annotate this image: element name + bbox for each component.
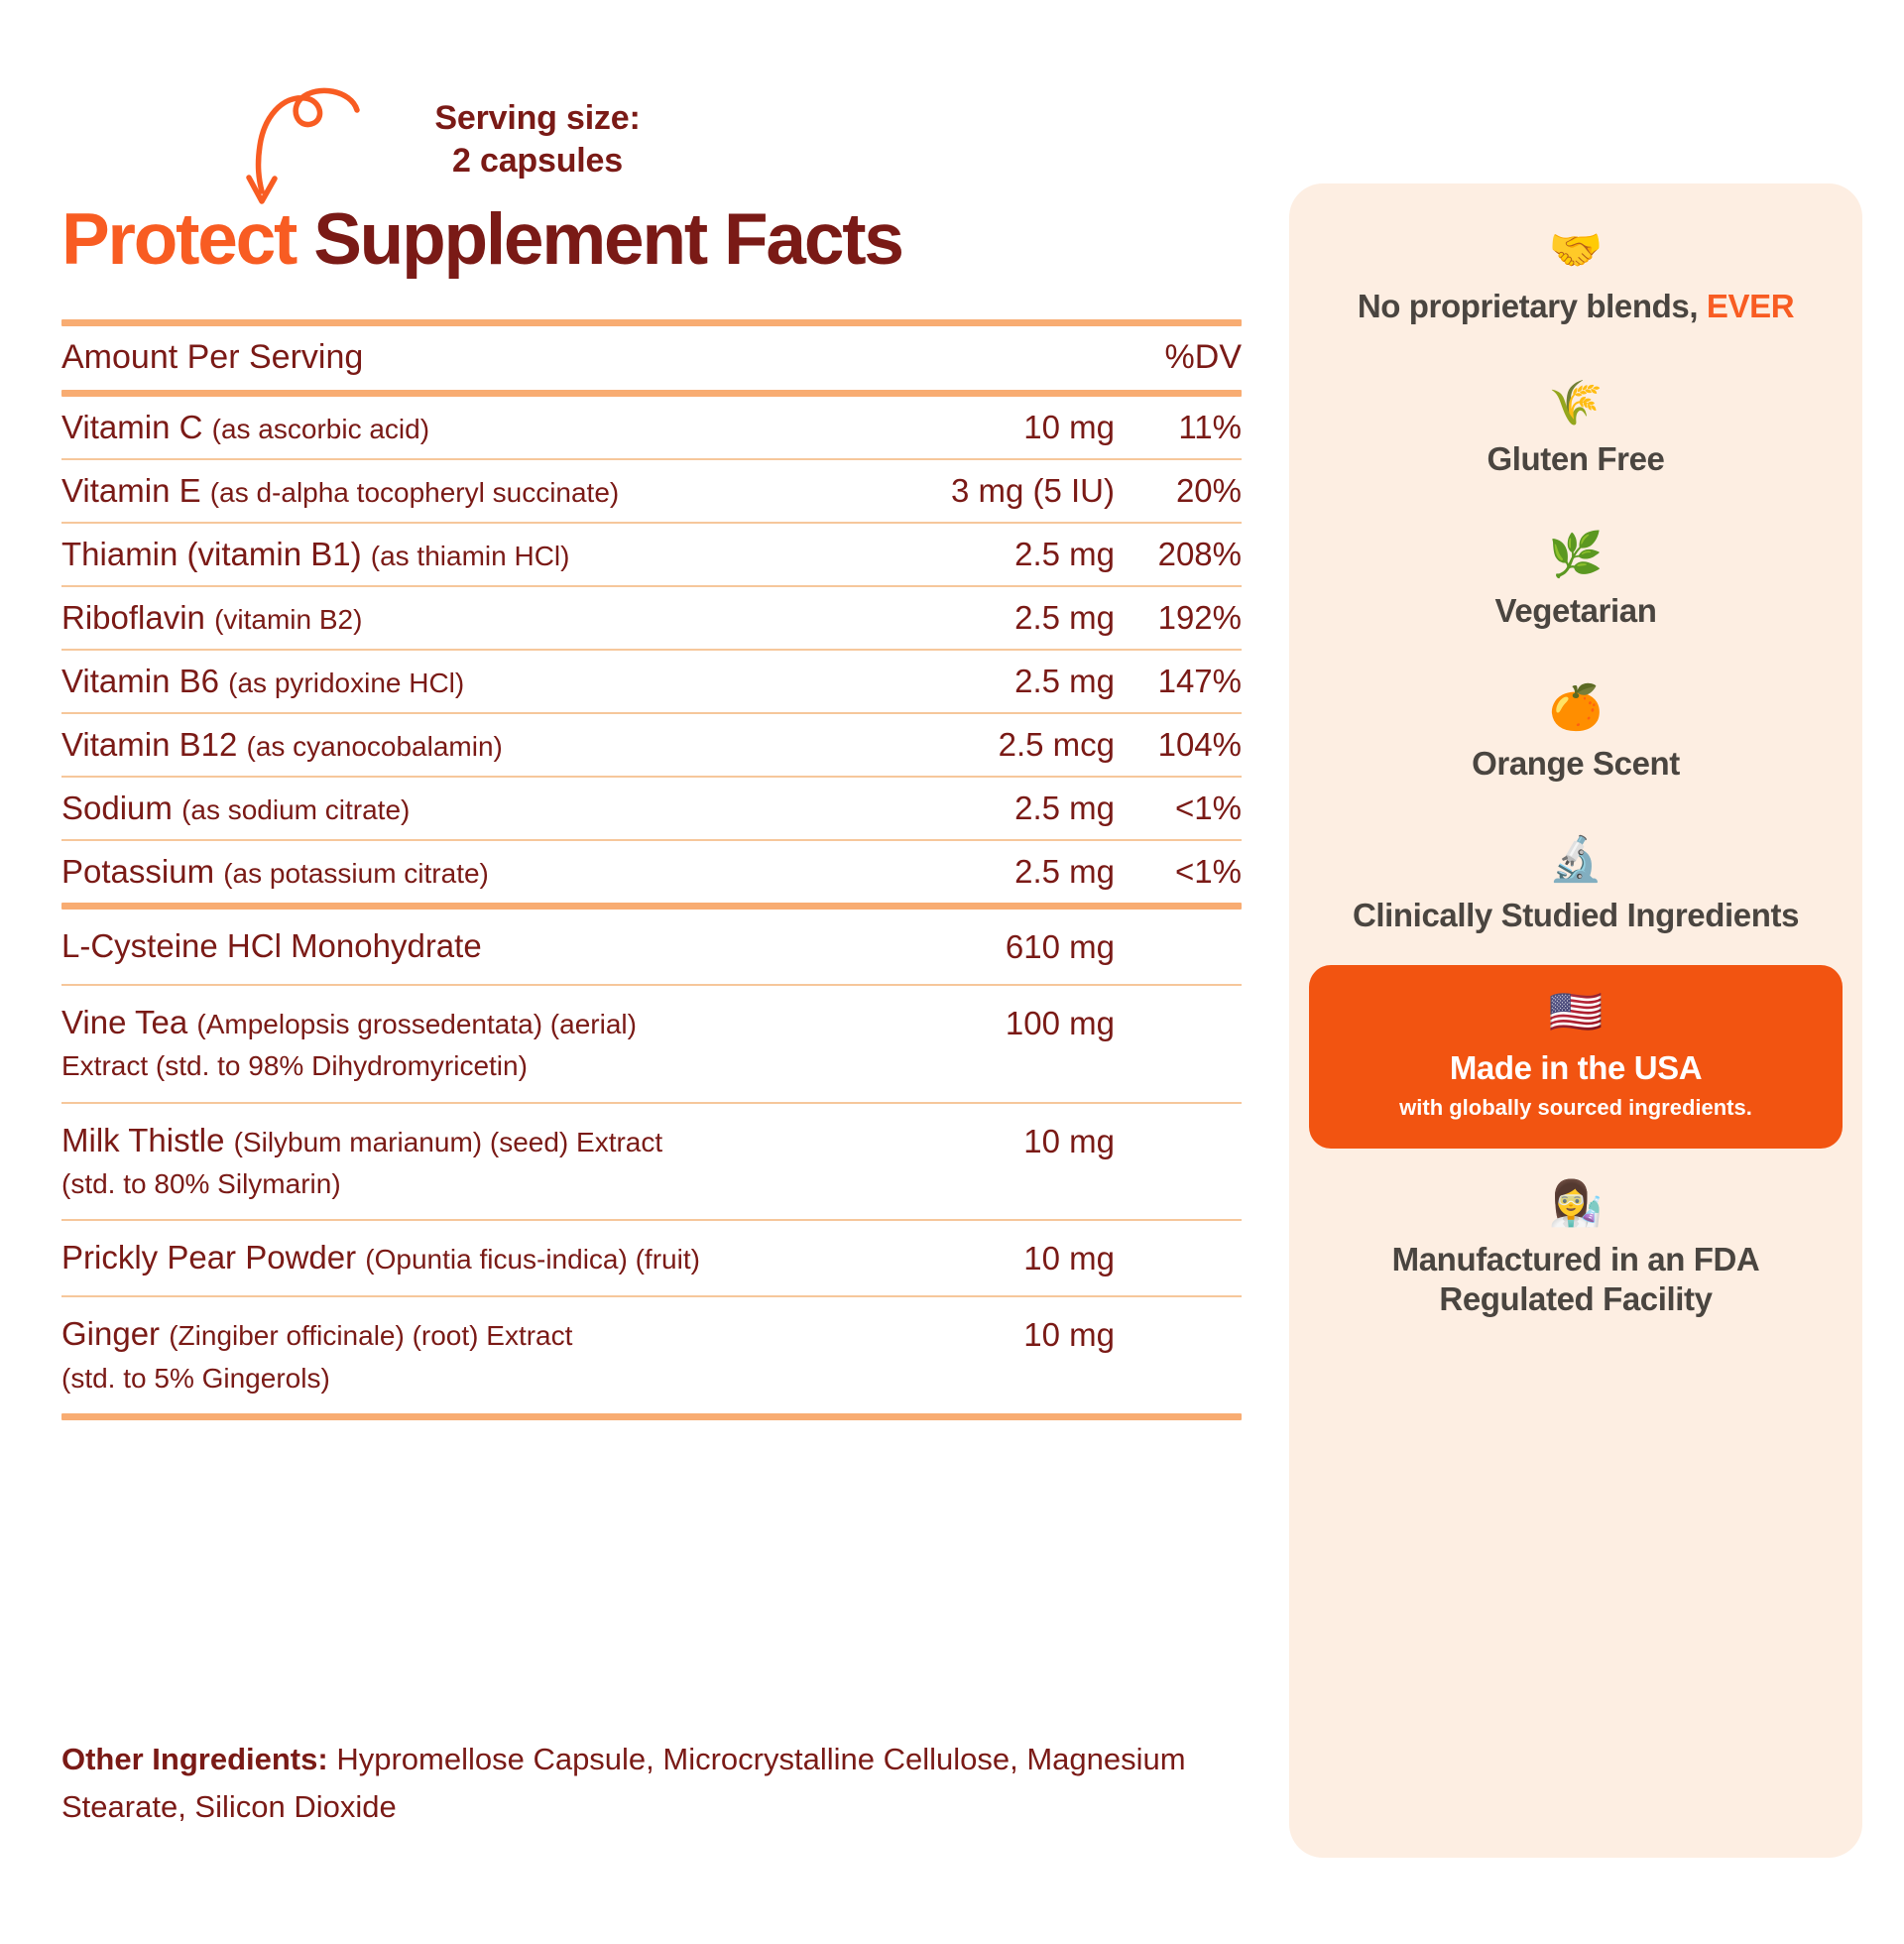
ingredient-dv bbox=[1115, 1120, 1242, 1121]
badge-label: Orange Scent bbox=[1329, 744, 1823, 784]
vitamin-rows-group: Vitamin C (as ascorbic acid)10 mg11%Vita… bbox=[61, 397, 1242, 903]
ingredient-dv: 147% bbox=[1115, 661, 1242, 702]
badge-wheat: 🌾Gluten Free bbox=[1289, 382, 1862, 479]
amount-per-serving-header: Amount Per Serving bbox=[61, 336, 906, 380]
table-header-row: Amount Per Serving %DV bbox=[61, 326, 1242, 390]
handshake-icon: 🤝 bbox=[1329, 229, 1823, 273]
ingredient-name: Riboflavin (vitamin B2) bbox=[61, 597, 906, 639]
ingredient-dv: 104% bbox=[1115, 724, 1242, 766]
usa-flag-icon: 🇺🇸 bbox=[1339, 991, 1813, 1034]
ingredient-descriptor: (as cyanocobalamin) bbox=[247, 731, 503, 762]
table-row: Vitamin C (as ascorbic acid)10 mg11% bbox=[61, 397, 1242, 458]
ingredient-amount: 10 mg bbox=[906, 1237, 1115, 1279]
ingredient-dv bbox=[1115, 1002, 1242, 1003]
orange-fruit-icon: 🍊 bbox=[1329, 686, 1823, 730]
ingredient-descriptor: Extract (std. to 98% Dihydromyricetin) bbox=[61, 1050, 528, 1081]
ingredient-amount: 3 mg (5 IU) bbox=[906, 470, 1115, 512]
ingredient-dv: 11% bbox=[1115, 407, 1242, 448]
microscope-icon: 🔬 bbox=[1329, 838, 1823, 882]
ingredient-descriptor: (vitamin B2) bbox=[214, 604, 362, 635]
ingredient-amount: 2.5 mg bbox=[906, 597, 1115, 639]
ingredient-name: Vitamin B12 (as cyanocobalamin) bbox=[61, 724, 906, 766]
table-row: Milk Thistle (Silybum marianum) (seed) E… bbox=[61, 1104, 1242, 1219]
ingredient-dv: 192% bbox=[1115, 597, 1242, 639]
ingredient-amount: 2.5 mg bbox=[906, 661, 1115, 702]
ingredient-name: Thiamin (vitamin B1) (as thiamin HCl) bbox=[61, 534, 906, 575]
ingredient-descriptor: (Ampelopsis grossedentata) (aerial) bbox=[196, 1009, 637, 1039]
dv-column-header: %DV bbox=[1115, 336, 1242, 380]
ingredient-amount: 2.5 mg bbox=[906, 851, 1115, 893]
badge-orange-fruit: 🍊Orange Scent bbox=[1289, 686, 1862, 784]
badge-label: Gluten Free bbox=[1329, 439, 1823, 479]
table-row: Prickly Pear Powder (Opuntia ficus-indic… bbox=[61, 1221, 1242, 1295]
table-row: Riboflavin (vitamin B2)2.5 mg192% bbox=[61, 587, 1242, 649]
badge-microscope: 🔬Clinically Studied Ingredients bbox=[1289, 838, 1862, 935]
other-ingredients: Other Ingredients: Hypromellose Capsule,… bbox=[61, 1736, 1212, 1831]
ingredient-descriptor: (Opuntia ficus-indica) (fruit) bbox=[365, 1244, 700, 1275]
ingredient-descriptor: (as ascorbic acid) bbox=[212, 414, 429, 444]
badge-handshake: 🤝No proprietary blends, EVER bbox=[1289, 229, 1862, 326]
ingredient-name: Vitamin C (as ascorbic acid) bbox=[61, 407, 906, 448]
ingredient-name: Vine Tea (Ampelopsis grossedentata) (aer… bbox=[61, 1002, 906, 1085]
table-row: Vitamin E (as d-alpha tocopheryl succina… bbox=[61, 460, 1242, 522]
ingredient-descriptor: (Silybum marianum) (seed) Extract bbox=[234, 1127, 663, 1157]
ingredient-name: Ginger (Zingiber officinale) (root) Extr… bbox=[61, 1313, 906, 1397]
ingredient-amount: 610 mg bbox=[906, 925, 1115, 968]
ingredient-dv: <1% bbox=[1115, 788, 1242, 829]
ingredient-descriptor: (std. to 5% Gingerols) bbox=[61, 1363, 330, 1394]
ingredient-amount: 2.5 mg bbox=[906, 788, 1115, 829]
title-rest: Supplement Facts bbox=[296, 199, 902, 280]
ingredient-descriptor: (as thiamin HCl) bbox=[371, 541, 570, 571]
badge-label: Clinically Studied Ingredients bbox=[1329, 896, 1823, 935]
ingredient-dv bbox=[1115, 1313, 1242, 1314]
ingredient-amount: 10 mg bbox=[906, 407, 1115, 448]
page-title: Protect Supplement Facts bbox=[61, 203, 902, 276]
ingredient-name: Sodium (as sodium citrate) bbox=[61, 788, 906, 829]
vitamins-bottom-rule bbox=[61, 903, 1242, 910]
ingredient-descriptor: (as d-alpha tocopheryl succinate) bbox=[210, 477, 619, 508]
badge-label-highlight: EVER bbox=[1707, 288, 1794, 324]
herb-rows-group: L-Cysteine HCl Monohydrate610 mgVine Tea… bbox=[61, 910, 1242, 1413]
ingredient-amount: 2.5 mg bbox=[906, 534, 1115, 575]
ingredient-name: Vitamin B6 (as pyridoxine HCl) bbox=[61, 661, 906, 702]
ingredient-descriptor: (Zingiber officinale) (root) Extract bbox=[169, 1320, 572, 1351]
badge-label: Made in the USA bbox=[1339, 1048, 1813, 1088]
curved-arrow-icon bbox=[240, 84, 379, 213]
ingredient-dv: <1% bbox=[1115, 851, 1242, 893]
ingredient-name: Prickly Pear Powder (Opuntia ficus-indic… bbox=[61, 1237, 906, 1278]
badge-label: No proprietary blends, EVER bbox=[1329, 287, 1823, 326]
badge-herb-leaf: 🌿Vegetarian bbox=[1289, 534, 1862, 631]
badge-label: Manufactured in an FDA Regulated Facilit… bbox=[1329, 1240, 1823, 1318]
herb-leaf-icon: 🌿 bbox=[1329, 534, 1823, 577]
ingredient-dv bbox=[1115, 1237, 1242, 1238]
wheat-icon: 🌾 bbox=[1329, 382, 1823, 425]
ingredient-amount: 2.5 mcg bbox=[906, 724, 1115, 766]
table-header-rule bbox=[61, 390, 1242, 397]
scientist-icon: 👩‍🔬 bbox=[1329, 1182, 1823, 1226]
ingredient-descriptor: (as potassium citrate) bbox=[223, 858, 489, 889]
ingredient-descriptor: (as sodium citrate) bbox=[181, 794, 410, 825]
badge-usa-flag: 🇺🇸Made in the USAwith globally sourced i… bbox=[1309, 965, 1843, 1149]
ingredient-name: Potassium (as potassium citrate) bbox=[61, 851, 906, 893]
badge-label: Vegetarian bbox=[1329, 591, 1823, 631]
badge-sublabel: with globally sourced ingredients. bbox=[1339, 1095, 1813, 1121]
ingredient-dv: 208% bbox=[1115, 534, 1242, 575]
other-ingredients-label: Other Ingredients: bbox=[61, 1742, 328, 1776]
nutrition-table: Amount Per Serving %DV Vitamin C (as asc… bbox=[61, 319, 1242, 1420]
serving-size-line1: Serving size: bbox=[434, 99, 640, 137]
serving-size-callout: Serving size: 2 capsules bbox=[240, 84, 656, 213]
table-top-rule bbox=[61, 319, 1242, 326]
table-row: Thiamin (vitamin B1) (as thiamin HCl)2.5… bbox=[61, 524, 1242, 585]
table-bottom-rule bbox=[61, 1413, 1242, 1420]
table-row: Sodium (as sodium citrate)2.5 mg<1% bbox=[61, 778, 1242, 839]
table-row: Ginger (Zingiber officinale) (root) Extr… bbox=[61, 1297, 1242, 1412]
serving-size-text: Serving size: 2 capsules bbox=[414, 97, 661, 182]
ingredient-amount: 10 mg bbox=[906, 1313, 1115, 1356]
table-row: Potassium (as potassium citrate)2.5 mg<1… bbox=[61, 841, 1242, 903]
table-row: L-Cysteine HCl Monohydrate610 mg bbox=[61, 910, 1242, 984]
ingredient-amount: 10 mg bbox=[906, 1120, 1115, 1162]
supplement-facts-page: Serving size: 2 capsules Protect Supplem… bbox=[0, 0, 1904, 1944]
table-row: Vitamin B6 (as pyridoxine HCl)2.5 mg147% bbox=[61, 651, 1242, 712]
ingredient-name: Vitamin E (as d-alpha tocopheryl succina… bbox=[61, 470, 906, 512]
ingredient-name: L-Cysteine HCl Monohydrate bbox=[61, 925, 906, 967]
brand-name: Protect bbox=[61, 199, 296, 280]
ingredient-dv: 20% bbox=[1115, 470, 1242, 512]
ingredient-descriptor: (std. to 80% Silymarin) bbox=[61, 1168, 341, 1199]
table-row: Vine Tea (Ampelopsis grossedentata) (aer… bbox=[61, 986, 1242, 1101]
ingredient-name: Milk Thistle (Silybum marianum) (seed) E… bbox=[61, 1120, 906, 1203]
product-badges-sidebar: 🤝No proprietary blends, EVER🌾Gluten Free… bbox=[1289, 183, 1862, 1858]
serving-size-line2: 2 capsules bbox=[414, 140, 661, 182]
table-row: Vitamin B12 (as cyanocobalamin)2.5 mcg10… bbox=[61, 714, 1242, 776]
ingredient-amount: 100 mg bbox=[906, 1002, 1115, 1044]
ingredient-descriptor: (as pyridoxine HCl) bbox=[228, 668, 464, 698]
badge-scientist: 👩‍🔬Manufactured in an FDA Regulated Faci… bbox=[1289, 1182, 1862, 1318]
ingredient-dv bbox=[1115, 925, 1242, 926]
